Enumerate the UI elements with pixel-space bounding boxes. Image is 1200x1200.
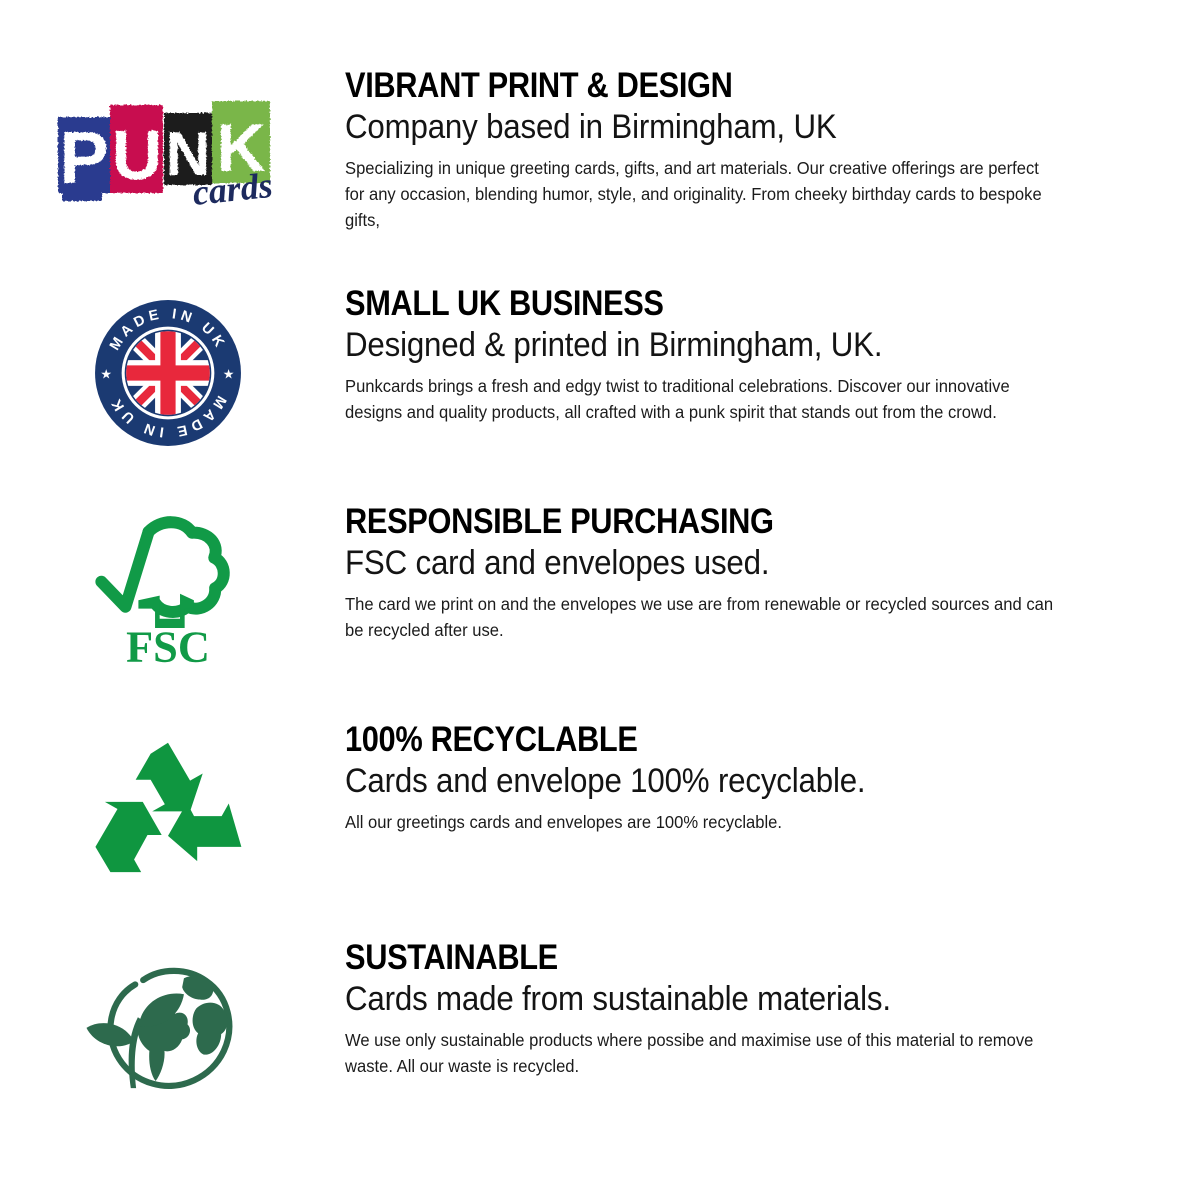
feature-list-page: P U N K cards: [0, 0, 1200, 1200]
feature-title: RESPONSIBLE PURCHASING: [345, 504, 1009, 540]
feature-subtitle: Cards made from sustainable materials.: [345, 980, 1040, 1018]
made-in-uk-badge-icon: MADE IN UK MADE IN UK ★ ★: [92, 297, 244, 449]
fsc-label: FSC: [126, 621, 210, 667]
punkcards-logo: P U N K cards: [52, 99, 284, 211]
feature-title: 100% RECYCLABLE: [345, 722, 1009, 758]
feature-body: Punkcards brings a fresh and edgy twist …: [345, 373, 1054, 425]
star-right-icon: ★: [222, 366, 234, 381]
fsc-tree-icon: FSC: [94, 515, 242, 667]
feature-row-100-percent-recyclable: 100% RECYCLABLE Cards and envelope 100% …: [0, 716, 1200, 934]
feature-body: Specializing in unique greeting cards, g…: [345, 155, 1054, 233]
feature-subtitle: Cards and envelope 100% recyclable.: [345, 762, 1040, 800]
feature-row-responsible-purchasing: FSC RESPONSIBLE PURCHASING FSC card and …: [0, 498, 1200, 716]
feature-icon-cell: [0, 934, 345, 1119]
feature-title: SUSTAINABLE: [345, 940, 1009, 976]
feature-text-cell: SMALL UK BUSINESS Designed & printed in …: [345, 280, 1200, 425]
globe-sprout-icon: [79, 957, 257, 1097]
feature-subtitle: FSC card and envelopes used.: [345, 544, 1040, 582]
feature-icon-cell: MADE IN UK MADE IN UK ★ ★: [0, 280, 345, 465]
feature-title: VIBRANT PRINT & DESIGN: [345, 68, 1009, 104]
svg-text:P: P: [59, 116, 108, 199]
svg-text:U: U: [111, 116, 162, 194]
feature-text-cell: VIBRANT PRINT & DESIGN Company based in …: [345, 62, 1200, 233]
features-list: P U N K cards: [0, 62, 1200, 1152]
feature-body: We use only sustainable products where p…: [345, 1027, 1054, 1079]
feature-body: All our greetings cards and envelopes ar…: [345, 809, 1054, 835]
feature-row-vibrant-print-design: P U N K cards: [0, 62, 1200, 280]
feature-row-small-uk-business: MADE IN UK MADE IN UK ★ ★ SMALL UK BUSIN…: [0, 280, 1200, 498]
feature-icon-cell: P U N K cards: [0, 62, 345, 247]
recycle-triangle-icon: [89, 738, 247, 880]
feature-text-cell: 100% RECYCLABLE Cards and envelope 100% …: [345, 716, 1200, 835]
feature-text-cell: RESPONSIBLE PURCHASING FSC card and enve…: [345, 498, 1200, 643]
feature-title: SMALL UK BUSINESS: [345, 286, 1009, 322]
feature-subtitle: Company based in Birmingham, UK: [345, 108, 1040, 146]
star-left-icon: ★: [100, 366, 112, 381]
feature-body: The card we print on and the envelopes w…: [345, 591, 1054, 643]
feature-icon-cell: FSC: [0, 498, 345, 683]
svg-text:cards: cards: [190, 164, 274, 210]
feature-row-sustainable: SUSTAINABLE Cards made from sustainable …: [0, 934, 1200, 1152]
feature-subtitle: Designed & printed in Birmingham, UK.: [345, 326, 1040, 364]
feature-icon-cell: [0, 716, 345, 901]
feature-text-cell: SUSTAINABLE Cards made from sustainable …: [345, 934, 1200, 1079]
